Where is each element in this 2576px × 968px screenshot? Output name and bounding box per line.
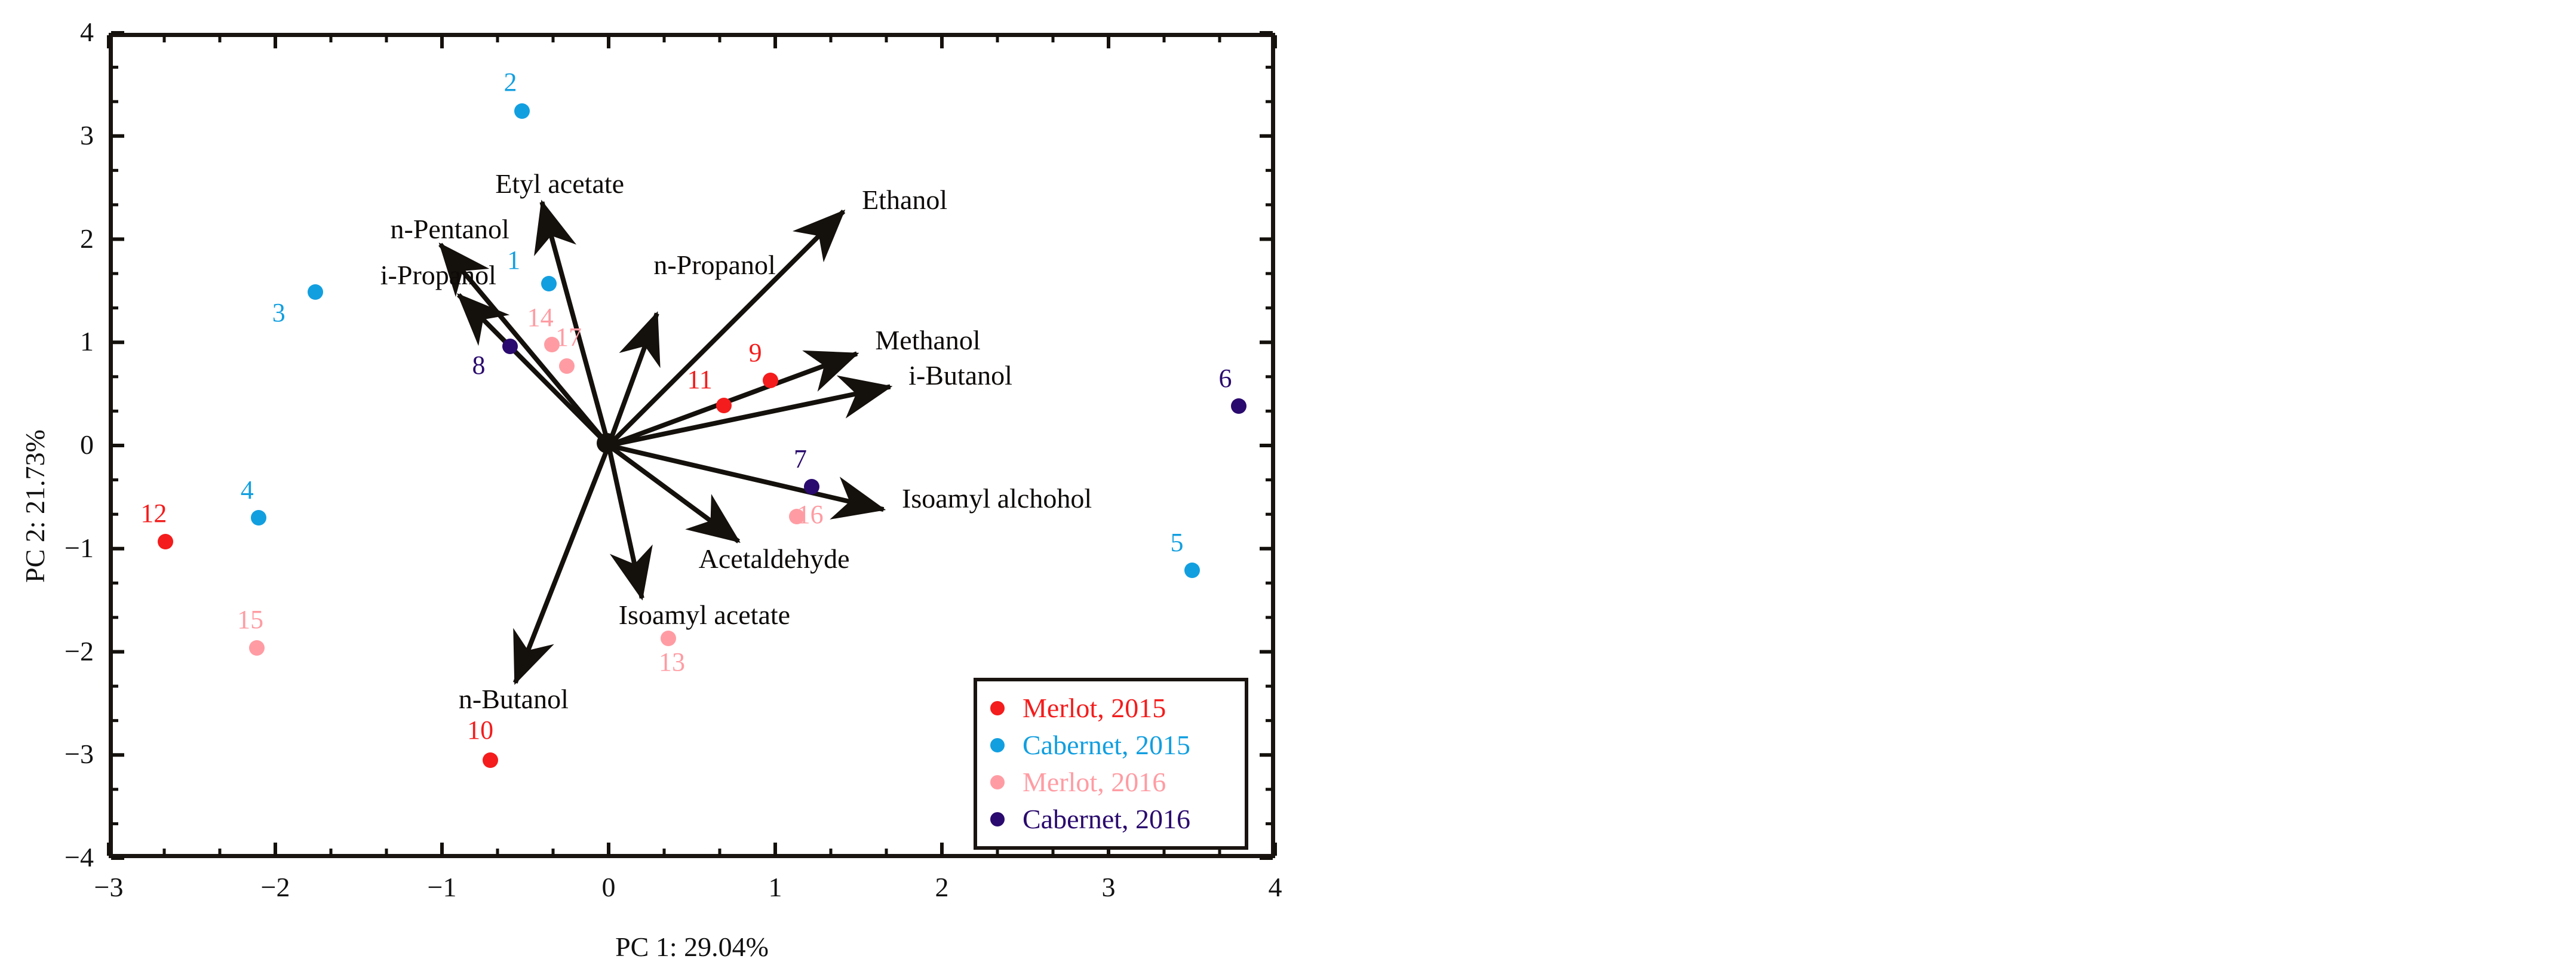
loading-label-n-pentanol: n-Pentanol — [391, 216, 509, 243]
data-point-label: 15 — [237, 607, 263, 633]
data-point-label: 6 — [1218, 365, 1232, 392]
loading-label-ethanol: Ethanol — [862, 186, 947, 214]
y-tick-label: 3 — [40, 122, 94, 149]
x-tick-label: −3 — [73, 874, 145, 901]
x-tick-label: 0 — [573, 874, 644, 901]
pca-biplot-figure: 43210−1−2−3−4 −3−2−101234 PC 1: 29.04% P… — [0, 0, 2576, 968]
data-point-label: 7 — [794, 446, 807, 472]
y-tick-label: 1 — [40, 328, 94, 355]
data-point — [483, 752, 498, 768]
data-point — [308, 284, 323, 300]
loading-label-n-propanol: n-Propanol — [653, 251, 775, 279]
legend-item[interactable]: Merlot, 2016 — [990, 764, 1229, 801]
data-point-label: 13 — [659, 649, 685, 675]
data-point-label: 16 — [797, 502, 824, 528]
data-point-label: 3 — [272, 300, 285, 326]
legend-swatch-icon — [990, 738, 1005, 752]
data-point — [158, 534, 173, 549]
legend-label: Merlot, 2016 — [1023, 769, 1166, 796]
data-point-label: 2 — [504, 69, 517, 96]
loading-label-etyl-acetate: Etyl acetate — [495, 170, 624, 198]
y-tick-label: 4 — [40, 19, 94, 46]
data-point — [763, 373, 778, 388]
y-tick-label: −2 — [40, 638, 94, 665]
data-point-label: 9 — [749, 340, 762, 366]
legend-label: Cabernet, 2016 — [1023, 806, 1190, 833]
legend-item[interactable]: Merlot, 2015 — [990, 690, 1229, 727]
data-point — [716, 398, 732, 413]
data-point-label: 1 — [507, 247, 520, 274]
data-point — [514, 103, 530, 119]
data-point — [1231, 398, 1246, 414]
x-tick-label: −2 — [240, 874, 311, 901]
legend-swatch-icon — [990, 775, 1005, 789]
legend-label: Cabernet, 2015 — [1023, 732, 1190, 759]
loading-label-methanol: Methanol — [875, 327, 980, 354]
y-tick-label: 2 — [40, 225, 94, 253]
data-point-label: 12 — [140, 500, 167, 527]
data-point-label: 5 — [1171, 530, 1184, 556]
y-tick-label: −4 — [40, 844, 94, 871]
legend-label: Merlot, 2015 — [1023, 694, 1166, 722]
data-point-label: 4 — [241, 477, 254, 503]
loading-label-i-propanol: i-Propanol — [380, 262, 496, 289]
legend-swatch-icon — [990, 701, 1005, 715]
loading-label-n-butanol: n-Butanol — [459, 686, 569, 713]
loading-label-acetaldehyde: Acetaldehyde — [699, 545, 850, 573]
data-point — [541, 276, 557, 291]
loading-label-i-butanol: i-Butanol — [908, 362, 1012, 389]
data-point — [1184, 563, 1200, 578]
legend-swatch-icon — [990, 812, 1005, 826]
x-tick-label: −1 — [406, 874, 478, 901]
x-tick-label: 1 — [739, 874, 811, 901]
x-tick-label: 3 — [1073, 874, 1144, 901]
data-point-label: 10 — [467, 717, 493, 743]
plot-area: 43210−1−2−3−4 −3−2−101234 PC 1: 29.04% P… — [0, 0, 1350, 968]
x-axis-title: PC 1: 29.04% — [513, 931, 871, 963]
x-tick-label: 4 — [1239, 874, 1311, 901]
x-tick-label: 2 — [906, 874, 978, 901]
data-point — [249, 640, 265, 656]
loading-label-isoamyl-acetate: Isoamyl acetate — [619, 601, 790, 629]
y-axis-title: PC 2: 21.73% — [19, 429, 51, 583]
legend-item[interactable]: Cabernet, 2015 — [990, 727, 1229, 764]
data-point — [251, 510, 266, 526]
data-point-label: 14 — [527, 305, 554, 331]
y-tick-label: −3 — [40, 740, 94, 768]
legend-item[interactable]: Cabernet, 2016 — [990, 801, 1229, 838]
loading-label-isoamyl-alchohol: Isoamyl alchohol — [902, 485, 1092, 512]
data-point-label: 8 — [472, 352, 486, 379]
data-point-label: 11 — [687, 367, 712, 393]
data-point-label: 17 — [555, 324, 582, 351]
legend: Merlot, 2015Cabernet, 2015Merlot, 2016Ca… — [974, 678, 1248, 850]
